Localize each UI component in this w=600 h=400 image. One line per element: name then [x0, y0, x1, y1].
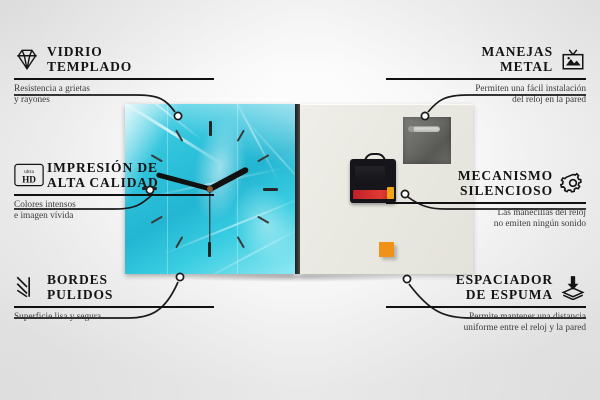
foam-spacer-pad — [379, 242, 394, 257]
divider — [386, 306, 586, 308]
mechanism-face-detail — [355, 166, 385, 182]
infographic-canvas: VIDRIOTEMPLADO Resistencia a grietasy ra… — [0, 0, 600, 400]
svg-text:ultra: ultra — [24, 169, 34, 175]
clock-tick-3 — [210, 188, 278, 190]
feature-description: Colores intensose imagen vívida — [14, 200, 214, 223]
feature-title: BORDESPULIDOS — [47, 272, 113, 302]
divider — [386, 78, 586, 80]
feature-title: MANEJASMETAL — [481, 44, 553, 74]
feature-title: MECANISMOSILENCIOSO — [458, 168, 553, 198]
feature-description: Superficie lisa y segura — [14, 312, 214, 324]
feature-description: Permite mantener una distanciauniforme e… — [386, 312, 586, 335]
feature-description: Permiten una fácil instalacióndel reloj … — [386, 84, 586, 107]
feature-mecanismo-silencioso: MECANISMOSILENCIOSO Las manecillas del r… — [386, 168, 586, 231]
feature-bordes-pulidos: BORDESPULIDOS Superficie lisa y segura — [14, 272, 214, 323]
feature-vidrio-templado: VIDRIOTEMPLADO Resistencia a grietasy ra… — [14, 44, 214, 107]
divider — [386, 202, 586, 204]
feature-description: Resistencia a grietasy rayones — [14, 84, 214, 107]
feature-espaciador-espuma: ESPACIADORDE ESPUMA Permite mantener una… — [386, 272, 586, 335]
diamond-icon — [14, 46, 40, 72]
feature-title: VIDRIOTEMPLADO — [47, 44, 132, 74]
feature-title: ESPACIADORDE ESPUMA — [456, 272, 553, 302]
feature-header: MANEJASMETAL — [386, 44, 586, 74]
foam-spacer-icon — [560, 274, 586, 300]
feature-impresion-alta-calidad: ultra HD IMPRESIÓN DEALTA CALIDAD Colore… — [14, 160, 214, 223]
feature-header: BORDESPULIDOS — [14, 272, 214, 302]
polished-edges-icon — [14, 274, 40, 300]
divider — [14, 78, 214, 80]
divider — [14, 194, 214, 196]
divider — [14, 306, 214, 308]
feature-manejas-metal: MANEJASMETAL Permiten una fácil instalac… — [386, 44, 586, 107]
svg-text:HD: HD — [22, 176, 36, 186]
metal-hanger-plate — [403, 117, 451, 164]
mechanism-hanging-loop — [364, 153, 386, 164]
feature-header: ESPACIADORDE ESPUMA — [386, 272, 586, 302]
feature-header: ultra HD IMPRESIÓN DEALTA CALIDAD — [14, 160, 214, 190]
hanger-keyhole-slot — [412, 126, 440, 132]
gear-icon — [560, 170, 586, 196]
feature-header: VIDRIOTEMPLADO — [14, 44, 214, 74]
feature-description: Las manecillas del relojno emiten ningún… — [386, 208, 586, 231]
ultra-hd-icon: ultra HD — [14, 162, 40, 188]
picture-hanger-icon — [560, 46, 586, 72]
feature-header: MECANISMOSILENCIOSO — [386, 168, 586, 198]
feature-title: IMPRESIÓN DEALTA CALIDAD — [47, 160, 159, 190]
